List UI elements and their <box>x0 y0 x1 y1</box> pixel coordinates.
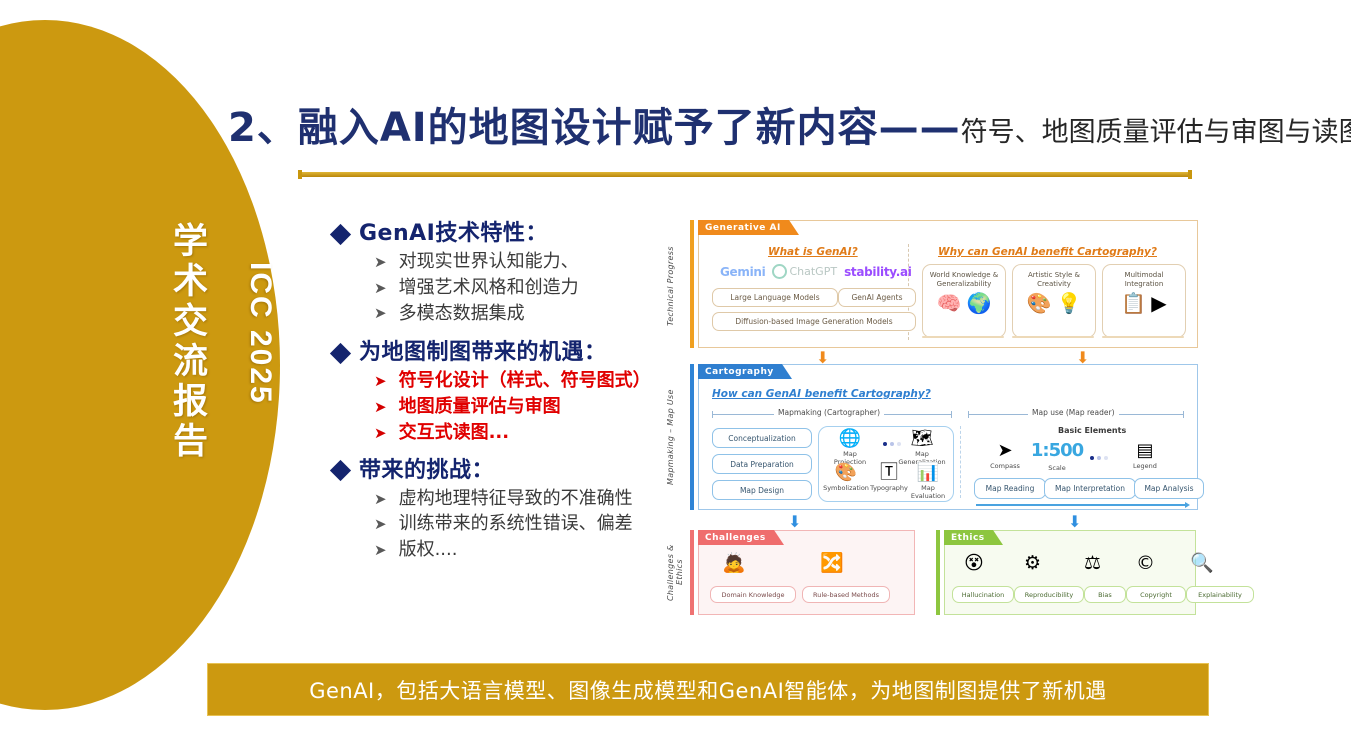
bullet-heading-text: 带来的挑战： <box>359 459 494 483</box>
card-icons: 📋▶ <box>1121 293 1166 313</box>
axis-label-mapuse: Map use (Map reader) <box>1028 408 1119 417</box>
bullet-list: GenAI技术特性： ➤ 对现实世界认知能力、 ➤ 增强艺术风格和创造力 ➤ 多… <box>333 222 663 566</box>
card-icons: 🧠🌍 <box>937 293 992 313</box>
page-title: 2、融入AI的地图设计赋予了新内容—— 符号、地图质量评估与审图与读图 <box>228 108 1351 148</box>
bullet-heading-text: GenAI技术特性： <box>359 222 548 246</box>
bullet-item-highlight: ➤ 交互式读图... <box>333 423 663 444</box>
chatgpt-logo: ChatGPT <box>772 264 837 279</box>
bullet-item: ➤ 增强艺术风格和创造力 <box>333 278 663 299</box>
vlabel-challenges-ethics: Challenges & Ethics <box>666 530 684 615</box>
card-multimodal-integration: Multimodal Integration 📋▶ <box>1102 264 1186 338</box>
map-icon: 🗺 <box>911 430 934 448</box>
tab-challenges: Challenges <box>698 530 774 545</box>
tab-ethics: Ethics <box>944 530 993 545</box>
sidebar-report-label: 学术交流报告 <box>162 222 213 462</box>
pill-domain-knowledge: Domain Knowledge <box>710 586 796 603</box>
icon-rule-based-methods: 🔀 <box>820 554 844 573</box>
flow-arrow <box>976 504 1186 506</box>
pill-map-reading: Map Reading <box>974 478 1046 499</box>
progress-dots <box>1090 456 1108 460</box>
heading-why-benefit: Why can GenAI benefit Cartography? <box>938 246 1157 258</box>
tab-cartography: Cartography <box>698 364 782 379</box>
card-underbar <box>1102 336 1184 338</box>
pill-conceptualization: Conceptualization <box>712 428 812 448</box>
section-challenges: Challenges 🙇 🔀 Domain Knowledge Rule-bas… <box>690 530 915 615</box>
palette-icon: 🎨 <box>835 464 857 482</box>
pill-diffusion-models: Diffusion-based Image Generation Models <box>712 312 916 331</box>
genai-cartography-diagram: Technical Progress Mapmaking – Map Use C… <box>668 212 1198 637</box>
balance-scale-icon: ⚖ <box>1084 554 1101 573</box>
bullet-item-highlight: ➤ 地图质量评估与审图 <box>333 397 663 418</box>
stability-ai-logo: stability.ai <box>844 265 912 279</box>
down-arrow-icon: ⬇ <box>1068 514 1081 530</box>
icon-map-projection: 🌐 Map Projection <box>828 430 872 466</box>
bullet-item: ➤ 版权.... <box>333 540 663 561</box>
heading-how-benefit: How can GenAI benefit Cartography? <box>712 388 931 400</box>
arrow-icon: ➤ <box>374 374 387 389</box>
pill-hallucination: Hallucination <box>952 586 1014 603</box>
globe-icon: 🌐 <box>839 430 861 448</box>
bullet-item: ➤ 训练带来的系统性错误、偏差 <box>333 514 663 535</box>
bullet-tail: ... <box>489 423 510 444</box>
pill-large-language-models: Large Language Models <box>712 288 838 307</box>
gemini-logo: Gemini <box>720 265 765 279</box>
vlabel-technical-progress: Technical Progress <box>666 226 675 346</box>
icon-legend: ▤ Legend <box>1122 442 1168 470</box>
gear-cycle-icon: ⚙ <box>1024 554 1041 573</box>
card-artistic-style: Artistic Style & Creativity 🎨💡 <box>1012 264 1096 338</box>
icon-reproducibility: ⚙ <box>1024 554 1041 573</box>
brain-icon: 🧠 <box>937 293 962 313</box>
bullet-item: ➤ 多模态数据集成 <box>333 304 663 325</box>
typography-icon: 🅃 <box>880 464 898 482</box>
clipboard-icon: 📋 <box>1121 293 1146 313</box>
down-arrow-icon: ⬇ <box>788 514 801 530</box>
flowchart-icon: 🔀 <box>820 554 844 573</box>
diamond-icon <box>330 343 351 364</box>
section-ethics: Ethics 😵 ⚙ ⚖ © 🔍 Hallucination Reproduci… <box>936 530 1196 615</box>
palette-icon: 🎨 <box>1027 293 1052 313</box>
legend-icon: ▤ <box>1136 442 1153 460</box>
card-underbar <box>1012 336 1094 338</box>
pill-explainability: Explainability <box>1186 586 1254 603</box>
pill-genai-agents: GenAI Agents <box>838 288 916 307</box>
icon-domain-knowledge: 🙇 <box>722 554 746 573</box>
pill-map-interpretation: Map Interpretation <box>1044 478 1136 499</box>
pill-map-analysis: Map Analysis <box>1134 478 1204 499</box>
copyright-gavel-icon: © <box>1136 554 1155 573</box>
icon-hallucination: 😵 <box>964 554 984 573</box>
pill-data-preparation: Data Preparation <box>712 454 812 474</box>
arrow-icon: ➤ <box>374 492 387 507</box>
summary-banner: GenAI，包括大语言模型、图像生成模型和GenAI智能体，为地图制图提供了新机… <box>207 663 1209 716</box>
vlabel-mapmaking-mapuse: Mapmaking – Map Use <box>666 370 675 504</box>
bullet-item: ➤ 虚构地理特征导致的不准确性 <box>333 489 663 510</box>
lightbulb-icon: 💡 <box>1057 293 1082 313</box>
pill-reproducibility: Reproducibility <box>1014 586 1084 603</box>
bullet-heading-3: 带来的挑战： <box>333 459 663 483</box>
tab-generative-ai: Generative AI <box>698 220 789 235</box>
person-badges-icon: 🙇 <box>722 554 746 573</box>
section-cartography: Cartography How can GenAI benefit Cartog… <box>690 364 1198 510</box>
icon-compass: ➤ Compass <box>982 442 1028 470</box>
section-accent-bar <box>690 220 694 348</box>
pill-rule-based-methods: Rule-based Methods <box>802 586 890 603</box>
icon-typography: 🅃 Typography <box>868 464 910 492</box>
card-world-knowledge: World Knowledge & Generalizability 🧠🌍 <box>922 264 1006 338</box>
section-accent-bar <box>690 364 694 510</box>
arrow-icon: ➤ <box>374 400 387 415</box>
icon-scale: 1:500 Scale <box>1032 442 1082 472</box>
compass-icon: ➤ <box>997 442 1012 460</box>
bullet-item-highlight: ➤ 符号化设计（样式、符号图式） <box>333 371 663 392</box>
section-divider <box>960 426 961 498</box>
diamond-icon <box>330 460 351 481</box>
section-generative-ai: Generative AI What is GenAI? Why can Gen… <box>690 220 1198 348</box>
arrow-icon: ➤ <box>374 281 387 296</box>
pill-copyright: Copyright <box>1126 586 1186 603</box>
globe-icon: 🌍 <box>967 293 992 313</box>
arrow-icon: ➤ <box>374 517 387 532</box>
play-icon: ▶ <box>1151 293 1166 313</box>
icon-bias: ⚖ <box>1084 554 1101 573</box>
arrow-icon: ➤ <box>374 426 387 441</box>
icon-explainability: 🔍 <box>1190 554 1214 573</box>
icon-symbolization: 🎨 Symbolization <box>824 464 868 492</box>
section-accent-bar <box>690 530 694 615</box>
basic-elements-title: Basic Elements <box>1058 426 1126 435</box>
pill-bias: Bias <box>1084 586 1126 603</box>
page-title-main: 2、融入AI的地图设计赋予了新内容—— <box>228 108 961 148</box>
genai-logo-row: Gemini ChatGPT stability.ai <box>720 264 912 279</box>
magnifier-doc-icon: 🔍 <box>1190 554 1214 573</box>
sidebar-event-label: ICC 2025 <box>243 262 277 405</box>
diamond-icon <box>330 223 351 244</box>
bullet-heading-1: GenAI技术特性： <box>333 222 663 246</box>
heading-what-is-genai: What is GenAI? <box>768 246 858 258</box>
arrow-icon: ➤ <box>374 306 387 321</box>
page-title-sub: 符号、地图质量评估与审图与读图 <box>961 119 1351 148</box>
bullet-item: ➤ 对现实世界认知能力、 <box>333 252 663 273</box>
bullet-heading-text: 为地图制图带来的机遇： <box>359 341 607 365</box>
scale-value: 1:500 <box>1031 442 1083 460</box>
title-underline-rule <box>300 172 1190 177</box>
pill-map-design: Map Design <box>712 480 812 500</box>
arrow-icon: ➤ <box>374 255 387 270</box>
icon-map-evaluation: 📊 Map Evaluation <box>906 464 950 500</box>
card-icons: 🎨💡 <box>1027 293 1082 313</box>
arrow-icon: ➤ <box>374 543 387 558</box>
chart-icon: 📊 <box>917 464 939 482</box>
bullet-heading-2: 为地图制图带来的机遇： <box>333 341 663 365</box>
icon-copyright: © <box>1136 554 1155 573</box>
dizzy-face-icon: 😵 <box>964 554 984 573</box>
axis-label-mapmaking: Mapmaking (Cartographer) <box>774 408 884 417</box>
section-accent-bar <box>936 530 940 615</box>
card-underbar <box>922 336 1004 338</box>
icon-map-generalization: 🗺 Map Generalization <box>898 430 946 466</box>
